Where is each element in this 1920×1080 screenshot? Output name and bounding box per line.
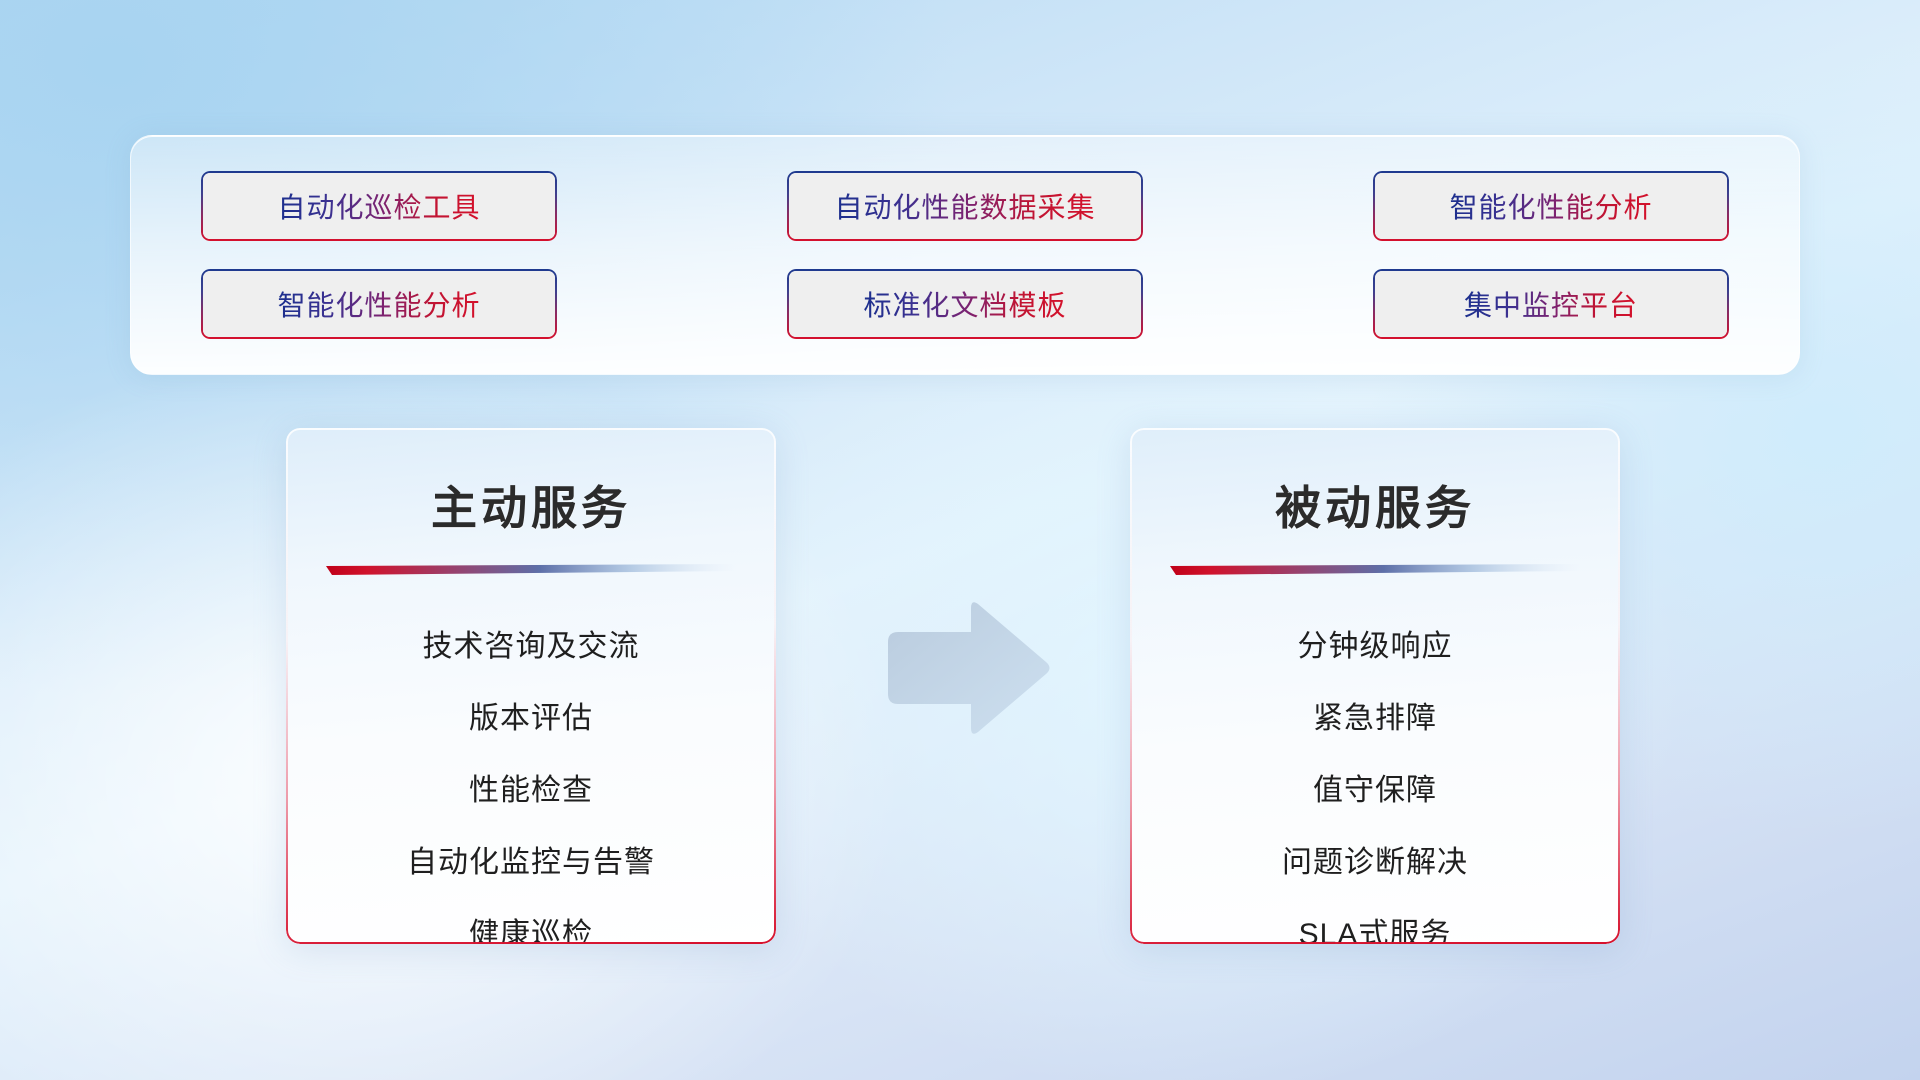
capability-pill-label: 自动化巡检工具 [277,186,480,226]
card-title: 主动服务 [286,472,776,538]
list-item: 性能检查 [286,761,776,821]
service-list: 技术咨询及交流 版本评估 性能检查 自动化监控与告警 健康巡检 [286,617,776,944]
capability-pill-3[interactable]: 智能化性能分析 [1373,171,1729,241]
list-item: 健康巡检 [286,905,776,944]
capability-pill-label: 智能化性能分析 [1449,186,1652,226]
capability-pill-label: 集中监控平台 [1464,284,1638,324]
capability-pill-6[interactable]: 集中监控平台 [1373,269,1729,339]
capability-pill-4[interactable]: 智能化性能分析 [201,269,557,339]
list-item: 技术咨询及交流 [286,617,776,677]
capability-row-1: 自动化巡检工具 自动化性能数据采集 智能化性能分析 [201,171,1729,241]
capability-panel: 自动化巡检工具 自动化性能数据采集 智能化性能分析 智能化性能分析 标准化文档模… [130,135,1800,375]
capability-pill-label: 自动化性能数据采集 [834,186,1095,226]
capability-pill-label: 智能化性能分析 [277,284,480,324]
list-item: 自动化监控与告警 [286,833,776,893]
list-item: 分钟级响应 [1130,617,1620,677]
list-item: 问题诊断解决 [1130,833,1620,893]
list-item: 版本评估 [286,689,776,749]
service-card-proactive: 主动服务 技术咨询及交流 版本评估 性能检查 自动化监控与告警 健康巡检 [286,428,776,944]
title-divider [1170,564,1580,575]
card-title: 被动服务 [1130,472,1620,538]
capability-pill-1[interactable]: 自动化巡检工具 [201,171,557,241]
list-item: 值守保障 [1130,761,1620,821]
title-divider [326,564,736,575]
capability-row-2: 智能化性能分析 标准化文档模板 集中监控平台 [201,269,1729,339]
service-card-reactive: 被动服务 分钟级响应 紧急排障 值守保障 问题诊断解决 SLA式服务 [1130,428,1620,944]
list-item: SLA式服务 [1130,905,1620,944]
list-item: 紧急排障 [1130,689,1620,749]
arrow-right-icon [878,600,1050,748]
capability-pill-2[interactable]: 自动化性能数据采集 [787,171,1143,241]
capability-pill-label: 标准化文档模板 [863,284,1066,324]
capability-pill-5[interactable]: 标准化文档模板 [787,269,1143,339]
service-list: 分钟级响应 紧急排障 值守保障 问题诊断解决 SLA式服务 [1130,617,1620,944]
